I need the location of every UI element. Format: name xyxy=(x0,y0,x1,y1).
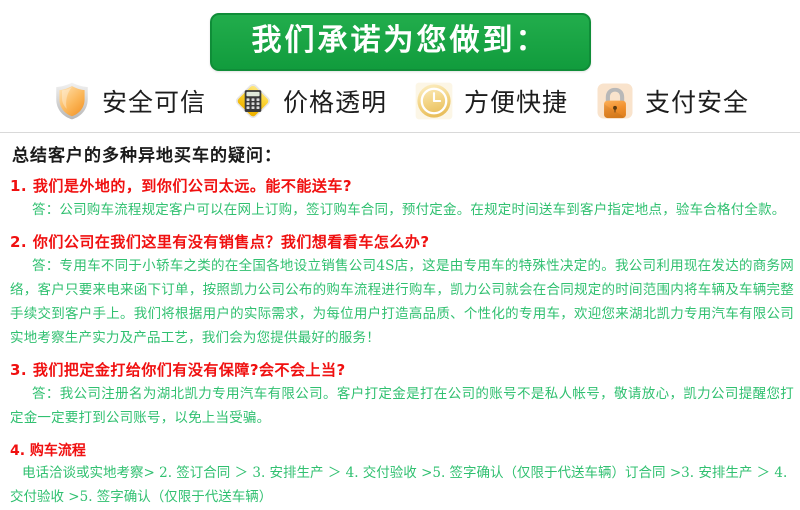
faq-question-1: 1. 我们是外地的，到你们公司太远。能不能送车? xyxy=(10,175,794,196)
feature-label-security: 安全可信 xyxy=(102,83,206,119)
calculator-icon xyxy=(232,80,274,122)
feature-label-convenience: 方便快捷 xyxy=(464,83,568,119)
lock-icon xyxy=(594,80,636,122)
banner-container: 我们承诺为您做到： xyxy=(0,0,800,71)
feature-item-payment: 支付安全 xyxy=(594,80,749,122)
faq-content: 总结客户的多种异地买车的疑问： 1. 我们是外地的，到你们公司太远。能不能送车?… xyxy=(0,133,800,510)
feature-label-payment: 支付安全 xyxy=(645,83,749,119)
promise-banner: 我们承诺为您做到： xyxy=(210,13,591,71)
shield-icon xyxy=(51,80,93,122)
feature-item-price: 价格透明 xyxy=(232,80,387,122)
clock-icon xyxy=(413,80,455,122)
faq-answer-2: 答：专用车不同于小轿车之类的在全国各地设立销售公司4S店，这是由专用车的特殊性决… xyxy=(10,254,794,350)
purchase-flow-heading: 4. 购车流程 xyxy=(10,440,794,460)
purchase-flow-steps: 电话洽谈或实地考察> 2. 签订合同 ＞ 3. 安排生产 ＞ 4. 交付验收 >… xyxy=(10,461,794,510)
feature-label-price: 价格透明 xyxy=(283,83,387,119)
feature-item-convenience: 方便快捷 xyxy=(413,80,568,122)
feature-item-security: 安全可信 xyxy=(51,80,206,122)
faq-question-2: 2. 你们公司在我们这里有没有销售点？我们想看看车怎么办? xyxy=(10,231,794,252)
faq-answer-1: 答：公司购车流程规定客户可以在网上订购，签订购车合同，预付定金。在规定时间送车到… xyxy=(10,198,794,222)
faq-section-title: 总结客户的多种异地买车的疑问： xyxy=(12,141,794,166)
feature-row: 安全可信 xyxy=(0,80,800,128)
faq-answer-3: 答：我公司注册名为湖北凯力专用汽车有限公司。客户打定金是打在公司的账号不是私人帐… xyxy=(10,382,794,430)
faq-question-3: 3. 我们把定金打给你们有没有保障?会不会上当? xyxy=(10,359,794,380)
